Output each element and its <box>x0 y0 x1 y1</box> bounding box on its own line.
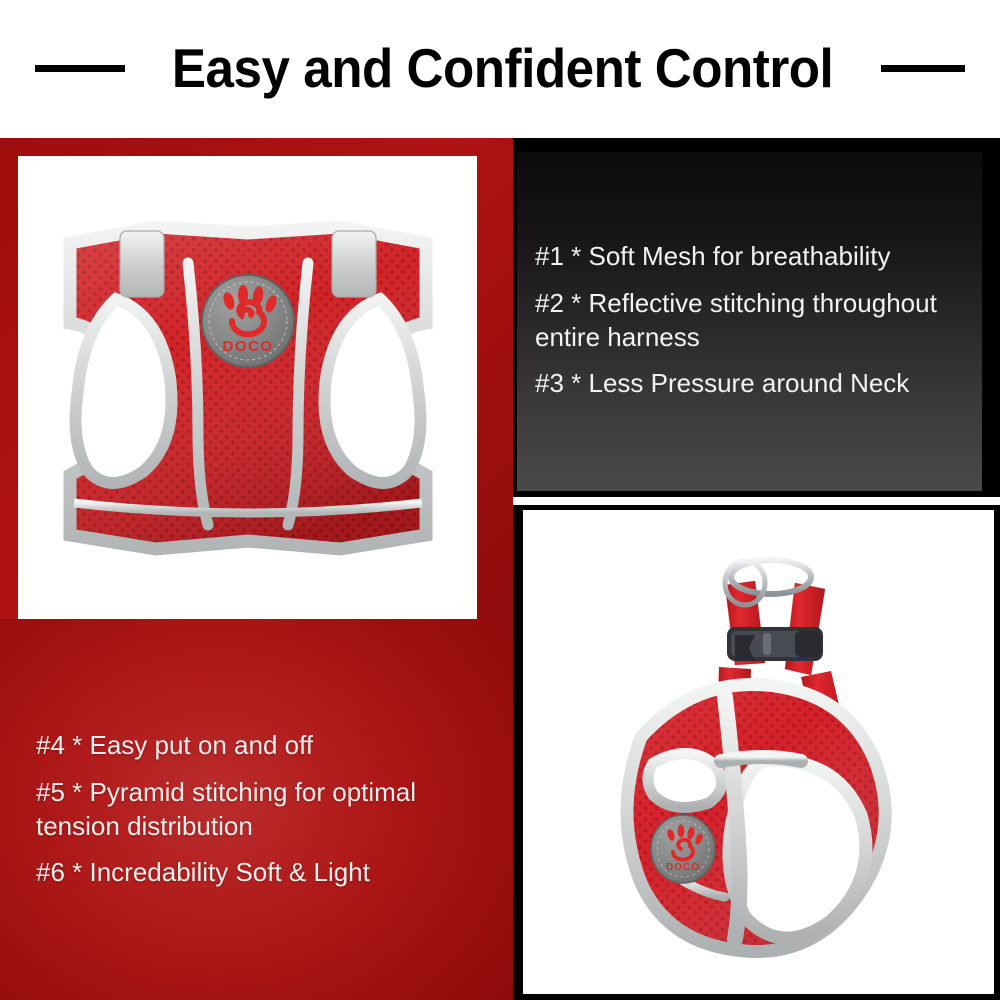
red-feature-list: #4 * Easy put on and off #5 * Pyramid st… <box>36 729 491 903</box>
reflective-band-horizontal <box>721 757 801 761</box>
feature-item-2: #2 * Reflective stitching throughout ent… <box>535 287 990 355</box>
title-dash-left-icon <box>35 65 125 72</box>
dark-feature-list: #1 * Soft Mesh for breathability #2 * Re… <box>535 240 990 414</box>
harness-strap-tab-left <box>120 231 164 297</box>
title-row: Easy and Confident Control <box>0 28 1000 108</box>
brand-logo-patch-worn: DOCO <box>651 815 715 883</box>
feature-item-6: #6 * Incredability Soft & Light <box>36 856 491 890</box>
harness-worn-svg: DOCO <box>549 547 969 977</box>
title-dash-right-icon <box>881 65 965 72</box>
red-features-panel: #4 * Easy put on and off #5 * Pyramid st… <box>0 619 513 1000</box>
harness-flat-svg: DOCO <box>48 203 448 573</box>
harness-worn-opening-shoulder <box>648 753 722 807</box>
dark-features-box: #1 * Soft Mesh for breathability #2 * Re… <box>517 152 982 491</box>
product-photo-flat-panel: DOCO <box>0 138 513 619</box>
feature-item-3: #3 * Less Pressure around Neck <box>535 367 990 401</box>
harness-strap-tab-right <box>332 231 376 297</box>
feature-item-1: #1 * Soft Mesh for breathability <box>535 240 990 274</box>
harness-flat-illustration: DOCO <box>48 203 448 573</box>
product-photo-worn-panel: DOCO <box>513 505 1000 1000</box>
brand-logo-text-worn: DOCO <box>666 862 700 873</box>
infographic-page: Easy and Confident Control <box>0 0 1000 1000</box>
side-release-buckle-icon <box>727 627 823 661</box>
feature-item-4: #4 * Easy put on and off <box>36 729 491 763</box>
harness-worn-opening-main <box>728 760 865 938</box>
harness-worn-illustration: DOCO <box>549 547 969 977</box>
product-photo-flat-stage: DOCO <box>18 156 477 619</box>
feature-item-5: #5 * Pyramid stitching for optimal tensi… <box>36 776 491 844</box>
page-title: Easy and Confident Control <box>172 36 833 100</box>
brand-logo-patch: DOCO <box>202 275 294 367</box>
product-photo-worn-stage: DOCO <box>523 510 994 994</box>
dark-features-panel: #1 * Soft Mesh for breathability #2 * Re… <box>513 138 1000 497</box>
brand-logo-text: DOCO <box>222 338 273 355</box>
header: Easy and Confident Control <box>0 0 1000 138</box>
harness-leg-opening-right <box>324 299 420 483</box>
